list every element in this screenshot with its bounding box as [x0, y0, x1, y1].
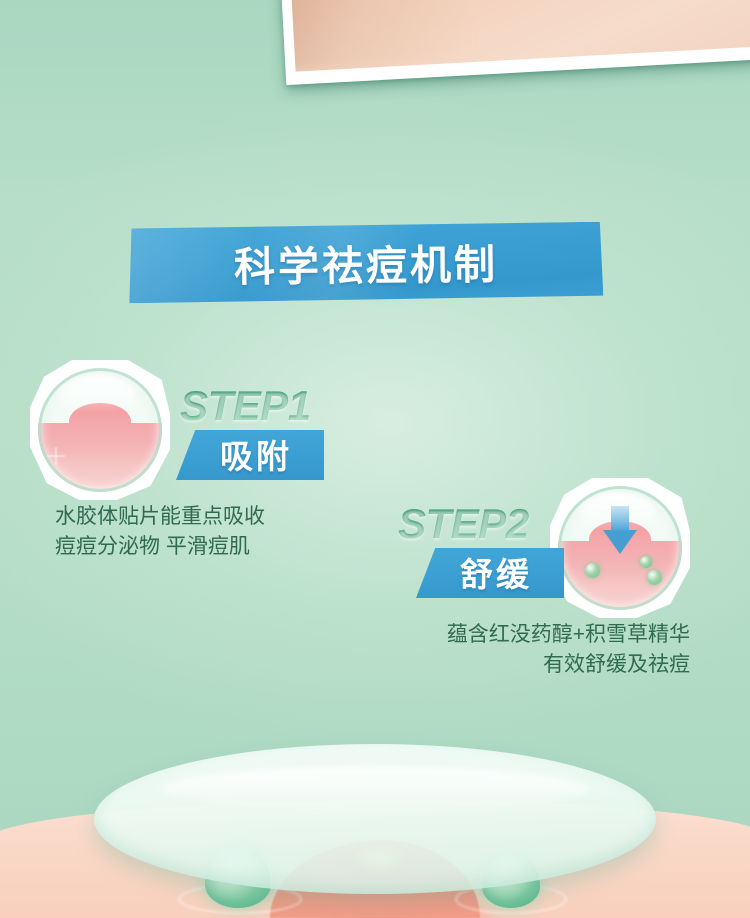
step-2-label: STEP2 [398, 500, 529, 548]
photo-image-face [283, 0, 750, 72]
hydrocolloid-patch [94, 744, 656, 894]
sphere-rim [38, 368, 162, 492]
product-scene [0, 728, 750, 918]
skin-sphere [38, 368, 162, 492]
face-shadow [283, 0, 472, 72]
step-2-description-line-2: 有效舒缓及祛痘 [390, 650, 690, 680]
step-1-tag: 吸附 [176, 430, 324, 480]
step-2-block: STEP2 舒缓 蕴含红没药醇+积雪草精华 有 [398, 478, 728, 693]
page-title: 科学祛痘机制 [129, 222, 604, 304]
step-1-tag-label: 吸附 [176, 430, 324, 480]
step-2-tag: 舒缓 [416, 548, 564, 598]
step-1-illustration [30, 360, 170, 500]
step-2-description-line-1: 蕴含红没药醇+积雪草精华 [390, 620, 690, 650]
step-2-tag-label: 舒缓 [416, 548, 564, 598]
headline-banner: 科学祛痘机制 [129, 222, 604, 304]
step-1-description-line-1: 水胶体贴片能重点吸收 [55, 502, 265, 532]
step-2-description: 蕴含红没药醇+积雪草精华 有效舒缓及祛痘 [390, 620, 690, 680]
promo-page: 科学祛痘机制 STEP1 吸附 水胶体贴片能重点吸收 痘痘分泌物 平滑痘肌 ST… [0, 0, 750, 918]
step-2-illustration [550, 478, 690, 618]
sparkle-icon [47, 447, 65, 465]
sphere-rim [558, 486, 682, 610]
skin-sphere [558, 486, 682, 610]
step-1-label: STEP1 [180, 382, 311, 430]
step-1-description-line-2: 痘痘分泌物 平滑痘肌 [55, 532, 265, 562]
patch-gloss [160, 766, 590, 812]
step-1-block: STEP1 吸附 水胶体贴片能重点吸收 痘痘分泌物 平滑痘肌 [30, 360, 360, 575]
step-1-description: 水胶体贴片能重点吸收 痘痘分泌物 平滑痘肌 [55, 502, 265, 562]
